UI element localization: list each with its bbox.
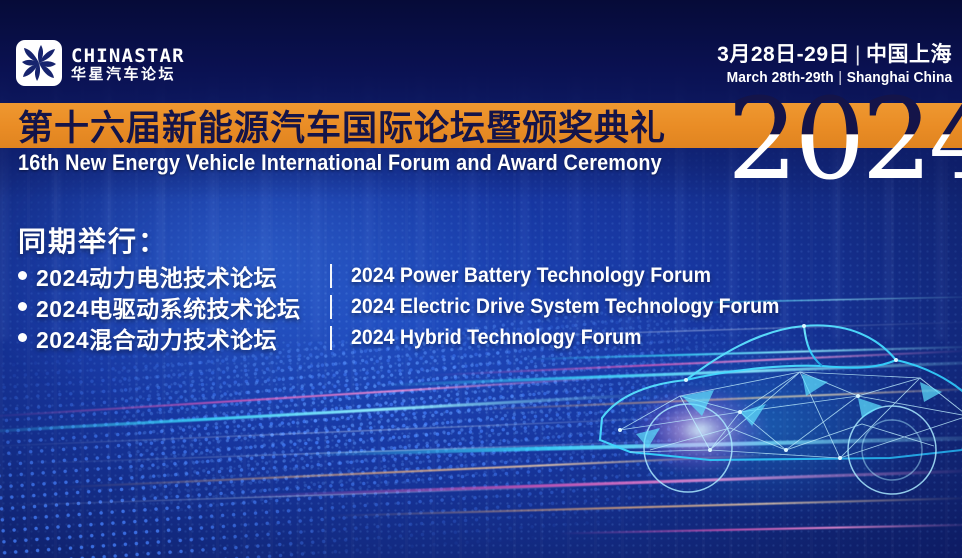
- concurrent-forum-list: 2024动力电池技术论坛 2024 Power Battery Technolo…: [18, 260, 812, 353]
- star-pinwheel-logo-icon: [16, 40, 62, 86]
- brand-logo[interactable]: CHINASTAR 华星汽车论坛: [16, 40, 185, 86]
- forum-name-en: 2024 Power Battery Technology Forum: [351, 264, 711, 288]
- date-location-cn: 3月28日-29日|中国上海: [707, 42, 952, 68]
- bullet-icon: [18, 271, 27, 280]
- forum-name-en: 2024 Electric Drive System Technology Fo…: [351, 295, 779, 319]
- location-cn: 中国上海: [866, 43, 952, 66]
- date-cn: 3月28日-29日: [717, 43, 850, 66]
- list-item: 2024混合动力技术论坛 2024 Hybrid Technology Foru…: [18, 322, 812, 353]
- forum-name-cn: 2024混合动力技术论坛: [36, 321, 326, 355]
- divider-icon: [330, 295, 332, 319]
- brand-name-en: CHINASTAR: [71, 47, 185, 66]
- year-2024-display: 2024 2024 2024: [727, 84, 962, 196]
- event-banner: CHINASTAR 华星汽车论坛 3月28日-29日|中国上海 March 28…: [0, 0, 962, 558]
- forum-name-cn: 2024电驱动系统技术论坛: [36, 290, 326, 324]
- divider-icon: [330, 264, 332, 288]
- concurrent-heading: 同期举行：: [18, 220, 168, 260]
- separator-icon: |: [850, 42, 866, 68]
- brand-name-cn: 华星汽车论坛: [71, 67, 185, 82]
- forum-name-cn: 2024动力电池技术论坛: [36, 259, 326, 293]
- bullet-icon: [18, 333, 27, 342]
- page-title-cn: 第十六届新能源汽车国际论坛暨颁奖典礼: [18, 104, 666, 147]
- bullet-icon: [18, 302, 27, 311]
- divider-icon: [330, 326, 332, 350]
- forum-name-en: 2024 Hybrid Technology Forum: [351, 326, 641, 350]
- event-date-location: 3月28日-29日|中国上海 March 28th-29th|Shanghai …: [707, 42, 952, 88]
- list-item: 2024动力电池技术论坛 2024 Power Battery Technolo…: [18, 260, 812, 291]
- list-item: 2024电驱动系统技术论坛 2024 Electric Drive System…: [18, 291, 812, 322]
- page-title-en: 16th New Energy Vehicle International Fo…: [18, 150, 662, 176]
